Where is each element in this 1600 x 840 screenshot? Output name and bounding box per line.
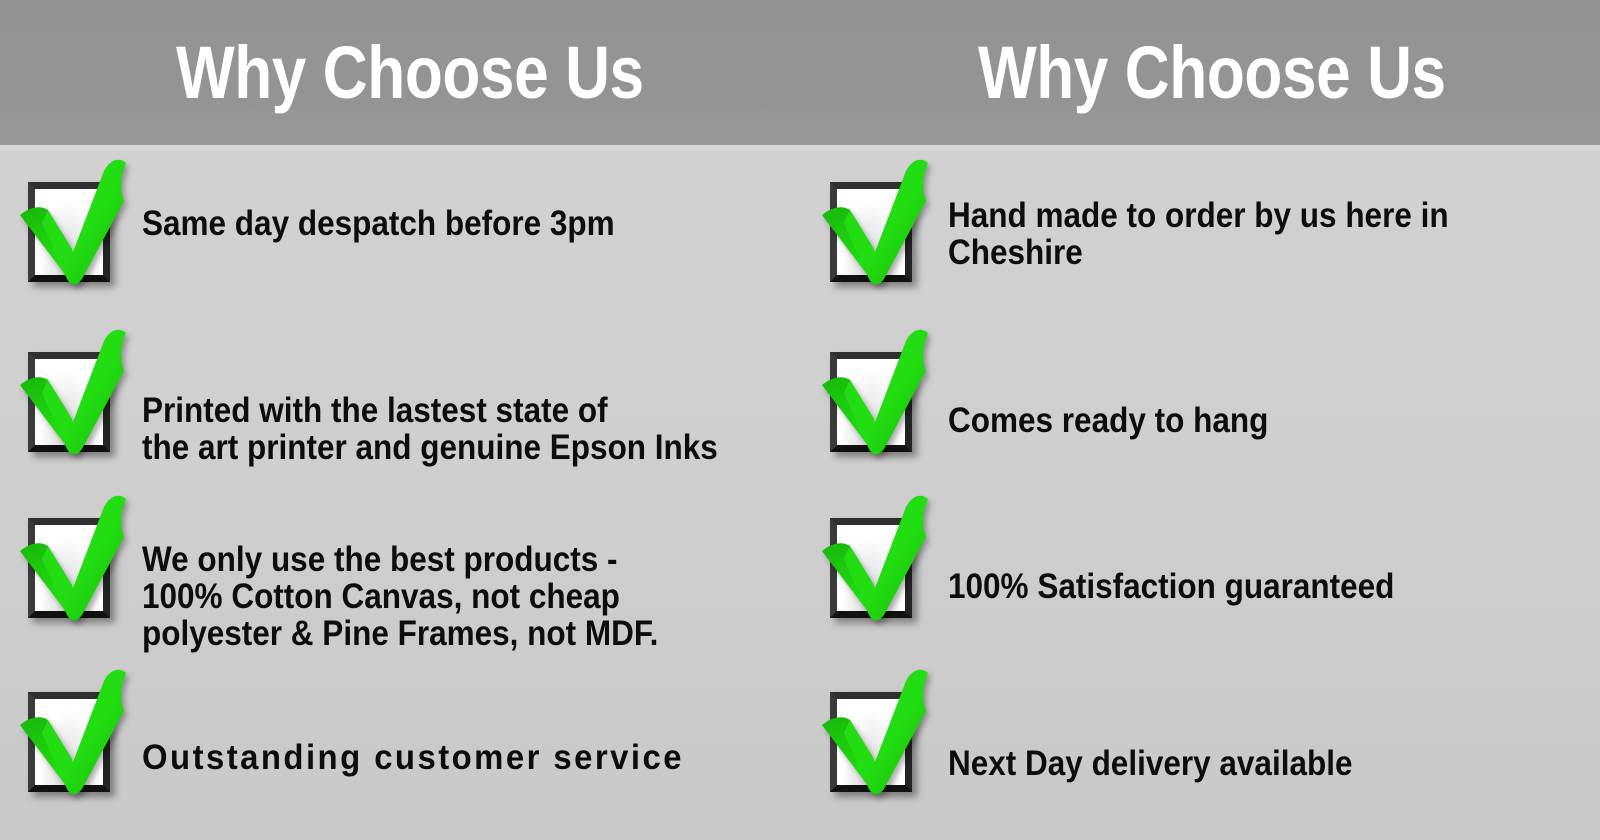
feature-item: Printed with the lastest state of the ar… bbox=[16, 327, 782, 466]
green-check-icon-wrap bbox=[818, 667, 930, 797]
green-check-icon bbox=[16, 667, 128, 797]
green-check-icon bbox=[16, 493, 128, 623]
feature-item-label: Next Day delivery available bbox=[948, 745, 1352, 782]
feature-column-left: Same day despatch before 3pm Printed wit… bbox=[0, 145, 800, 840]
green-check-icon-wrap bbox=[16, 667, 128, 797]
feature-item: 100% Satisfaction guaranteed bbox=[818, 493, 1444, 623]
feature-item: Same day despatch before 3pm bbox=[16, 157, 667, 287]
feature-item-label: Comes ready to hang bbox=[948, 402, 1268, 439]
feature-item-label: Same day despatch before 3pm bbox=[142, 205, 615, 242]
green-check-icon bbox=[818, 667, 930, 797]
green-check-icon-wrap bbox=[818, 157, 930, 287]
green-check-icon bbox=[16, 327, 128, 457]
header-band: Why Choose Us Why Choose Us bbox=[0, 0, 1600, 145]
feature-item-label: 100% Satisfaction guaranteed bbox=[948, 568, 1394, 605]
green-check-icon bbox=[818, 493, 930, 623]
green-check-icon-wrap bbox=[16, 493, 128, 623]
feature-item-label: Printed with the lastest state of the ar… bbox=[142, 392, 718, 466]
feature-item: Next Day delivery available bbox=[818, 667, 1397, 797]
why-choose-us-banner: Why Choose Us Why Choose Us Same day des… bbox=[0, 0, 1600, 840]
green-check-icon-wrap bbox=[818, 493, 930, 623]
feature-item-label: We only use the best products - 100% Cot… bbox=[142, 541, 658, 652]
green-check-icon-wrap bbox=[16, 327, 128, 457]
feature-columns: Same day despatch before 3pm Printed wit… bbox=[0, 145, 1600, 840]
page-title-left: Why Choose Us bbox=[176, 36, 644, 110]
feature-item: Hand made to order by us here in Cheshir… bbox=[818, 157, 1504, 287]
page-title-right: Why Choose Us bbox=[978, 36, 1446, 110]
green-check-icon-wrap bbox=[16, 157, 128, 287]
header-half-left: Why Choose Us bbox=[0, 0, 800, 145]
feature-item: Comes ready to hang bbox=[818, 327, 1304, 457]
green-check-icon-wrap bbox=[818, 327, 930, 457]
feature-item-label: Outstanding customer service bbox=[142, 739, 684, 776]
feature-item: Outstanding customer service bbox=[16, 667, 719, 797]
feature-item-label: Hand made to order by us here in Cheshir… bbox=[948, 197, 1449, 271]
feature-item: We only use the best products - 100% Cot… bbox=[16, 493, 716, 652]
feature-column-right: Hand made to order by us here in Cheshir… bbox=[800, 145, 1600, 840]
green-check-icon bbox=[818, 327, 930, 457]
green-check-icon bbox=[818, 157, 930, 287]
green-check-icon bbox=[16, 157, 128, 287]
header-half-right: Why Choose Us bbox=[800, 0, 1600, 145]
